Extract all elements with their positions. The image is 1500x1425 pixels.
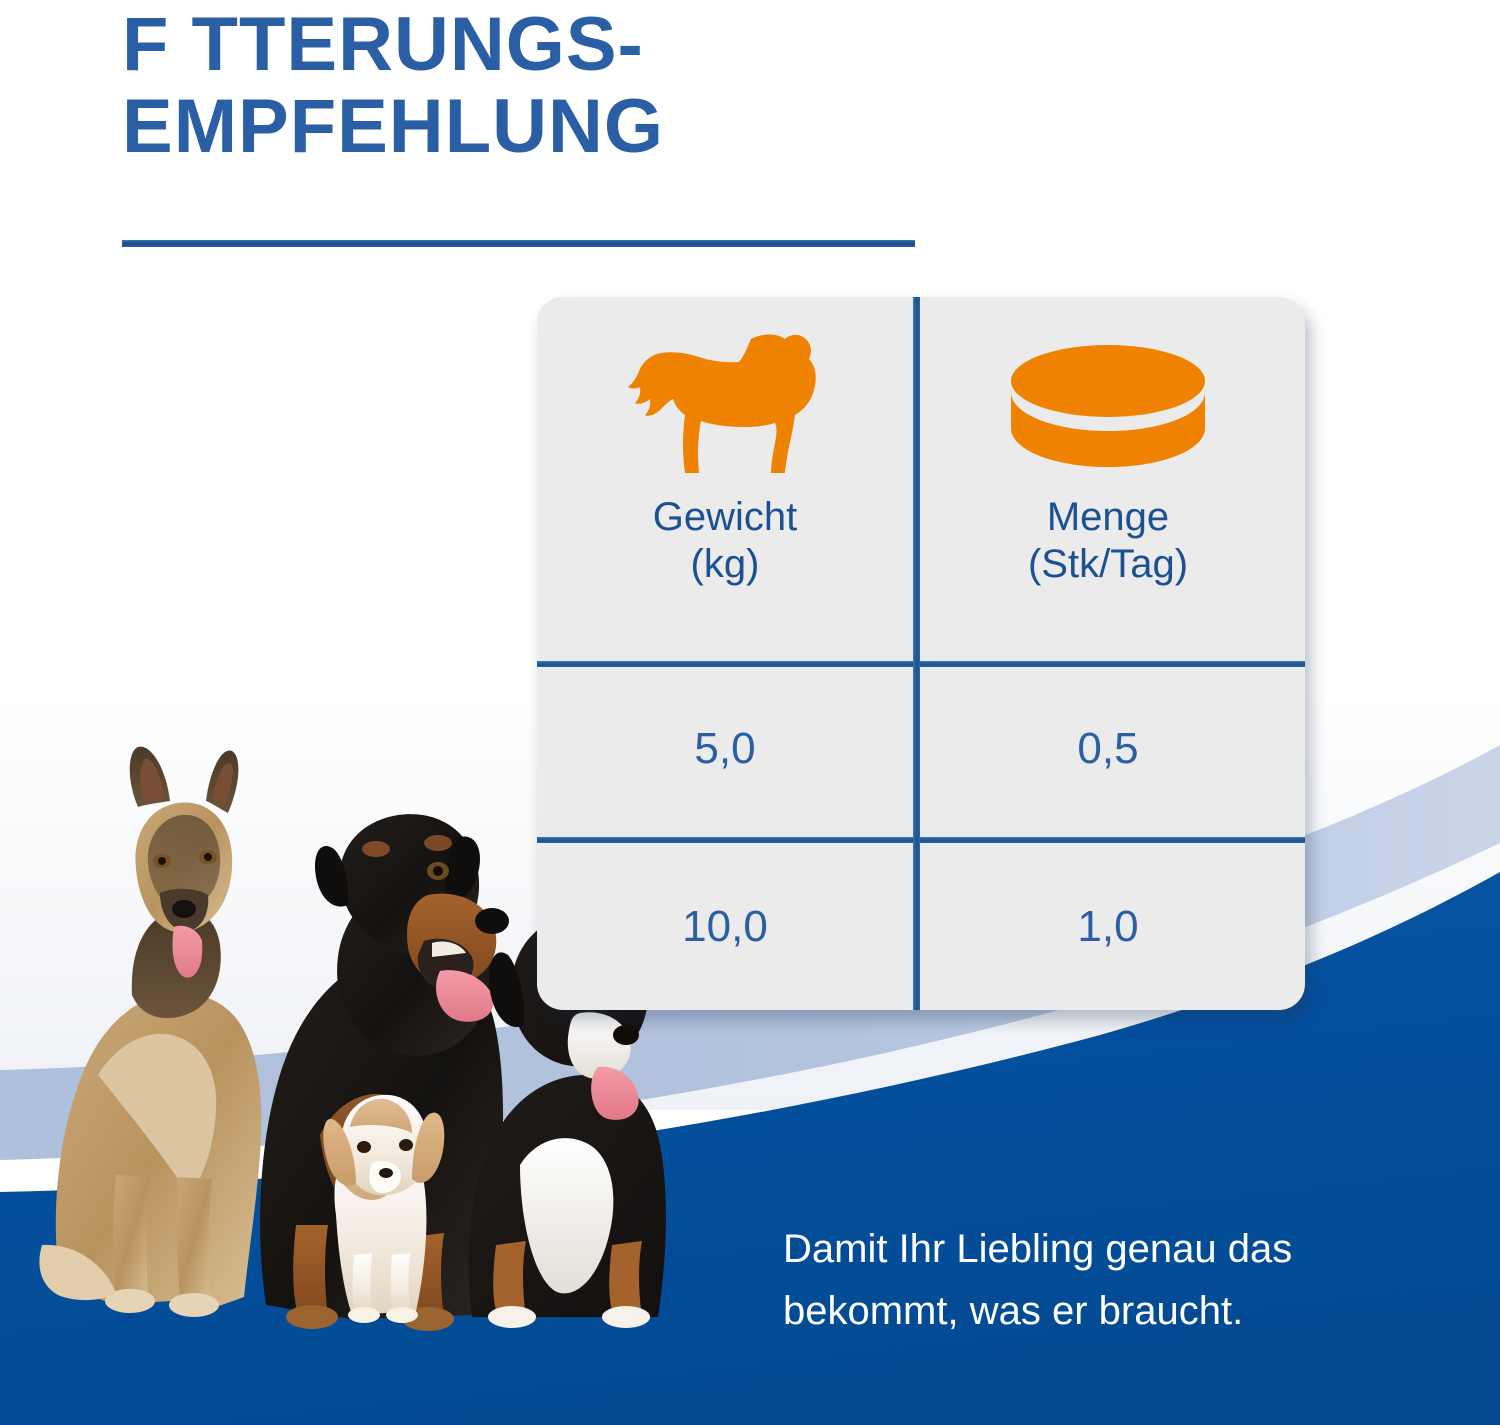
table-column-amount: Menge (Stk/Tag) 0,5 1,0 (920, 297, 1296, 1010)
dog-silhouette-icon (625, 323, 825, 488)
table-header-amount-unit: (Stk/Tag) (1028, 540, 1188, 588)
table-header-weight-label: Gewicht (653, 494, 798, 540)
table-cell-weight-row1: 5,0 (537, 661, 913, 837)
header-title-block: F TTERUNGS- EMPFEHLUNG (122, 4, 1122, 168)
table-grid: Gewicht (kg) 5,0 10,0 Menge (Stk/Tag) (537, 297, 1305, 1010)
page-title: F TTERUNGS- EMPFEHLUNG (122, 4, 1122, 168)
table-cell-amount-row1: 0,5 (920, 661, 1296, 837)
table-header-amount: Menge (Stk/Tag) (920, 297, 1296, 661)
table-row-divider-1 (537, 661, 1305, 667)
food-patty-icon (1003, 323, 1213, 488)
table-row-divider-2 (537, 837, 1305, 843)
table-header-amount-label: Menge (1047, 494, 1169, 540)
title-divider-rule (122, 240, 915, 247)
feeding-recommendation-table: Gewicht (kg) 5,0 10,0 Menge (Stk/Tag) (537, 297, 1305, 1010)
table-header-weight: Gewicht (kg) (537, 297, 913, 661)
table-column-weight: Gewicht (kg) 5,0 10,0 (537, 297, 913, 1010)
table-header-weight-unit: (kg) (691, 540, 760, 588)
photo-dog-german-shepherd (39, 747, 261, 1317)
table-cell-weight-row2: 10,0 (537, 843, 913, 1010)
tagline-text: Damit Ihr Liebling genau das bekommt, wa… (783, 1218, 1443, 1342)
table-cell-amount-row2: 1,0 (920, 843, 1296, 1010)
table-column-divider (913, 297, 920, 1010)
